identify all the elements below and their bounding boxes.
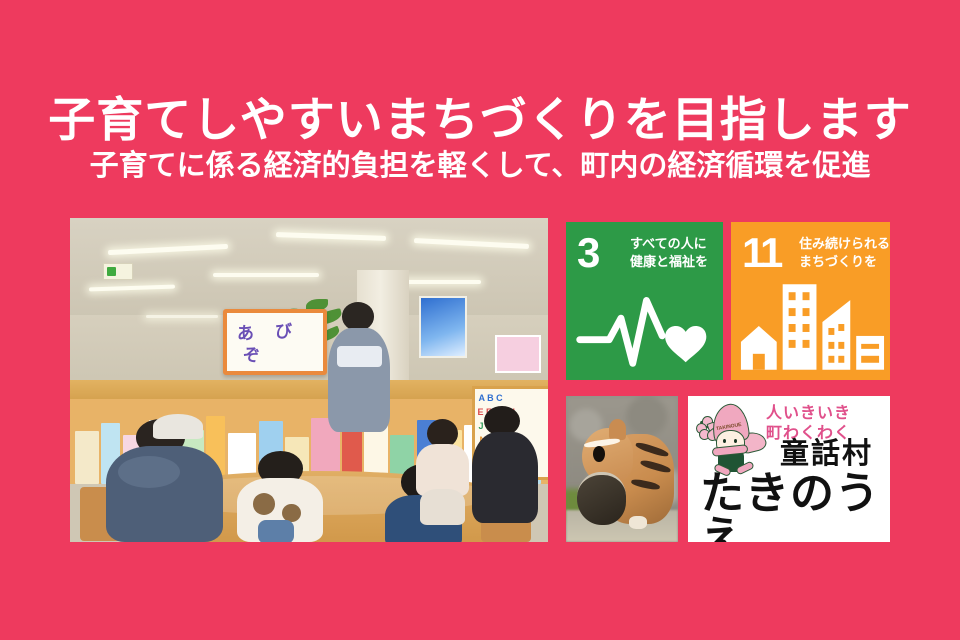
blue-poster <box>419 296 467 358</box>
sdg-goal-number: 11 <box>742 232 780 274</box>
sdg-goal-line-2: まちづくりを <box>799 253 890 271</box>
sdg-goal-line-2: 健康と福祉を <box>630 253 708 271</box>
sdg-goal-label: すべての人に 健康と福祉を <box>630 235 708 271</box>
sdg-goal-line-1: 住み続けられる <box>799 235 890 253</box>
adult-visitor <box>103 419 227 542</box>
chipmunk-photo <box>566 396 678 542</box>
abc-line-1: A B C <box>479 393 503 403</box>
city-buildings-icon <box>731 278 890 374</box>
poster-canvas: 子育てしやすいまちづくりを目指します 子育てに係る経済的負担を軽くして、町内の経… <box>0 0 960 640</box>
heartbeat-heart-icon <box>566 278 723 374</box>
chipmunk-eye <box>593 446 605 462</box>
hiragana-sign: あ び ぞ <box>223 309 327 375</box>
ceiling-light <box>213 273 318 277</box>
seed-in-paws <box>577 472 626 525</box>
logo-dowamura-text: 童話村 <box>780 440 873 469</box>
exit-sign-icon <box>103 263 133 280</box>
child-visitor <box>237 451 323 542</box>
logo-tagline-line-1: 人いきいき <box>766 404 851 424</box>
sign-char-3: ぞ <box>243 341 260 366</box>
logo-takinoue-text: たきのうえ <box>700 472 890 542</box>
page-title: 子育てしやすいまちづくりを目指します <box>0 96 960 143</box>
ceiling-light <box>146 315 218 318</box>
chipmunk-ear <box>609 419 627 439</box>
sdg-goal-label: 住み続けられる まちづくりを <box>799 235 890 271</box>
page-subtitle: 子育てに係る経済的負担を軽くして、町内の経済循環を促進 <box>0 152 960 181</box>
sdg-goal-line-1: すべての人に <box>630 235 708 253</box>
pink-poster <box>495 335 541 373</box>
library-photo: あ び ぞ A B C <box>70 218 548 542</box>
adult-visitor <box>472 406 539 523</box>
sign-char-2: び <box>275 317 292 342</box>
chipmunk-paw <box>629 516 647 529</box>
sdg-goal-3-badge: 3 すべての人に 健康と福祉を <box>566 222 723 380</box>
sdg-goal-number: 3 <box>577 232 599 274</box>
town-logo: TAKINOUE 人いきいき 町わくわく 童話村 たきのうえ <box>688 396 890 542</box>
sdg-goal-11-badge: 11 住み続けられる まちづくりを <box>731 222 890 380</box>
takinoue-fairy-mascot-icon: TAKINOUE <box>696 402 768 478</box>
standing-adult <box>328 302 390 432</box>
toddler-visitor <box>414 419 471 523</box>
